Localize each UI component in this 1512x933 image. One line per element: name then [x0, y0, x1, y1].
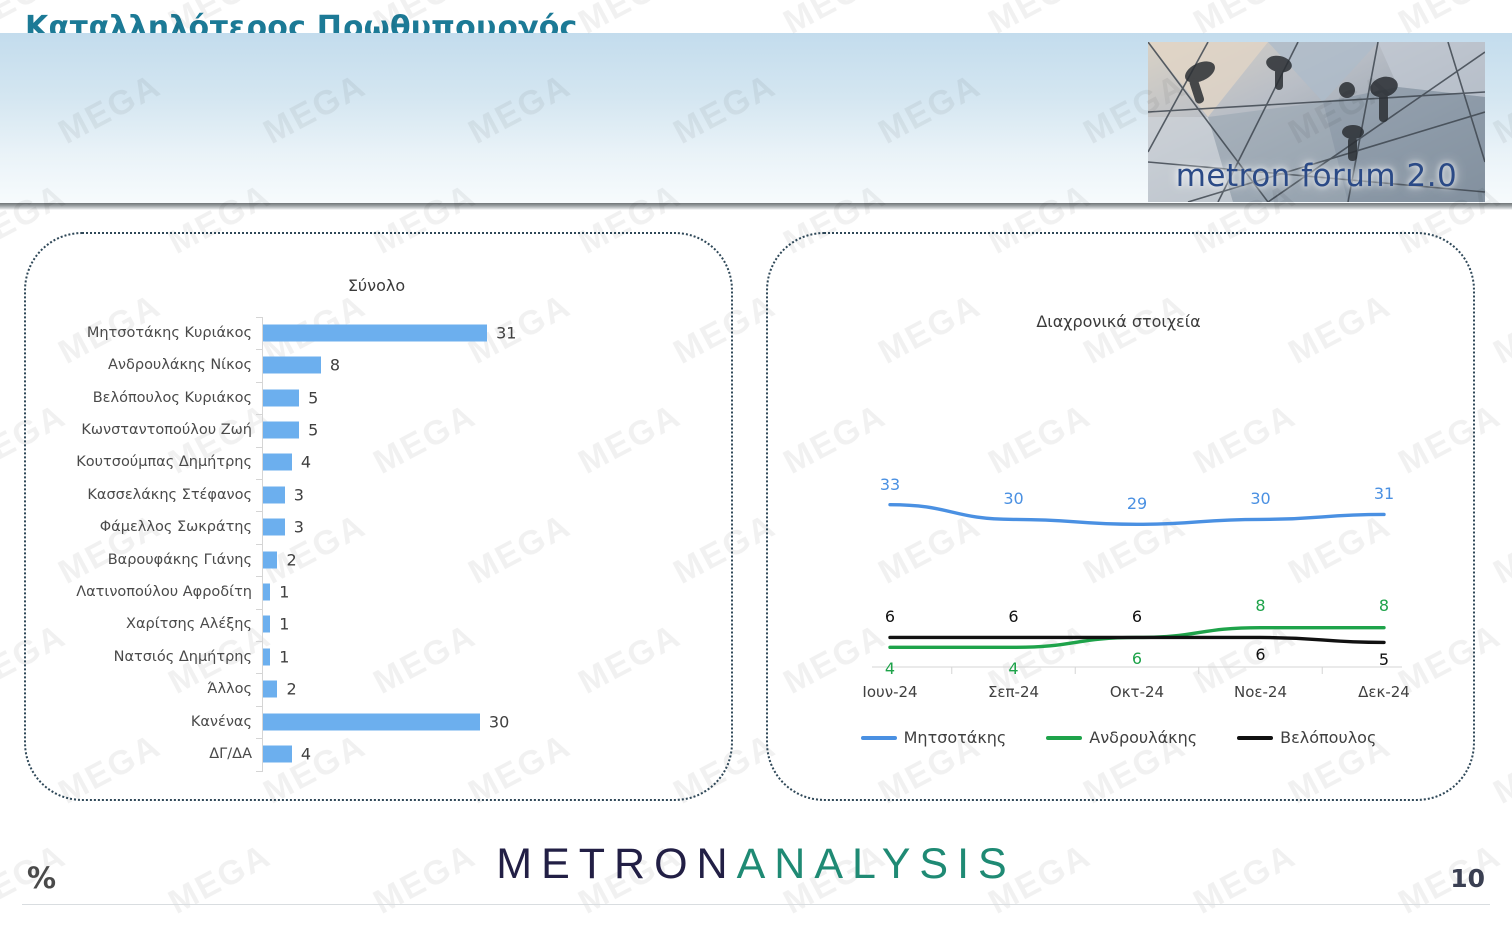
percent-unit-label: % — [27, 861, 56, 895]
bar-chart-row: Λατινοπούλου Αφροδίτη1 — [24, 576, 729, 608]
bar-axis-tick — [256, 349, 263, 350]
bar-category-label: Ανδρουλάκης Νίκος — [24, 357, 252, 373]
bar-chart-row: Χαρίτσης Αλέξης1 — [24, 609, 729, 641]
line-value-label: 4 — [885, 659, 895, 678]
bar-axis-tick — [256, 382, 263, 383]
bar-rect — [263, 486, 285, 503]
bar-axis-tick — [256, 447, 263, 448]
bar-rect — [263, 454, 292, 471]
line-value-label: 8 — [1255, 596, 1265, 615]
bar-chart-row: Ανδρουλάκης Νίκος8 — [24, 349, 729, 381]
page-number: 10 — [1450, 864, 1485, 893]
bar-chart-row: Βαρουφάκης Γιάνης2 — [24, 544, 729, 576]
legend-item[interactable]: Ανδρουλάκης — [1046, 728, 1197, 747]
bar-category-label: Χαρίτσης Αλέξης — [24, 616, 252, 632]
bar-category-label: Άλλος — [24, 681, 252, 697]
footer-divider — [22, 904, 1490, 905]
bar-value-label: 4 — [301, 744, 311, 763]
line-chart-timeseries: Διαχρονικά στοιχεία 33302930314468866665… — [766, 232, 1471, 797]
bar-rect — [263, 519, 285, 536]
bar-value-label: 4 — [301, 453, 311, 472]
line-value-label: 30 — [1003, 489, 1023, 508]
bar-value-label: 2 — [286, 680, 296, 699]
bar-chart-row: Νατσιός Δημήτρης1 — [24, 641, 729, 673]
metron-analysis-brand: METRONANALYSIS — [0, 840, 1512, 889]
brand-metron: METRON — [496, 840, 736, 888]
bar-axis-tick — [256, 317, 263, 318]
bar-category-label: Κωνσταντοπούλου Ζωή — [24, 422, 252, 438]
bar-chart-row: ΔΓ/ΔΑ4 — [24, 738, 729, 770]
bar-category-label: Κασσελάκης Στέφανος — [24, 487, 252, 503]
bar-rect — [263, 713, 480, 730]
line-value-label: 4 — [1008, 659, 1018, 678]
bar-value-label: 8 — [330, 356, 340, 375]
bar-axis-tick — [256, 576, 263, 577]
bar-rect — [263, 681, 277, 698]
bar-axis-tick — [256, 673, 263, 674]
bar-axis-tick — [256, 771, 263, 772]
bar-axis-tick — [256, 706, 263, 707]
line-value-label: 30 — [1250, 489, 1270, 508]
bar-rect — [263, 324, 487, 341]
bar-category-label: Λατινοπούλου Αφροδίτη — [24, 584, 252, 600]
bar-value-label: 2 — [286, 550, 296, 569]
bar-value-label: 1 — [279, 582, 289, 601]
line-x-label: Δεκ-24 — [1358, 683, 1410, 701]
legend-item[interactable]: Μητσοτάκης — [861, 728, 1007, 747]
bar-value-label: 3 — [294, 485, 304, 504]
bar-chart-row: Μητσοτάκης Κυριάκος31 — [24, 317, 729, 349]
bar-chart-row: Βελόπουλος Κυριάκος5 — [24, 382, 729, 414]
bar-rect — [263, 745, 292, 762]
brand-analysis: ANALYSIS — [737, 840, 1016, 888]
watermark-text: MEGA — [1487, 726, 1512, 812]
line-x-label: Οκτ-24 — [1110, 683, 1164, 701]
legend-swatch — [1237, 736, 1273, 740]
bar-chart-row: Φάμελλος Σωκράτης3 — [24, 511, 729, 543]
line-value-label: 6 — [1132, 607, 1142, 626]
bar-category-label: Νατσιός Δημήτρης — [24, 649, 252, 665]
bar-value-label: 31 — [496, 323, 516, 342]
bar-rect — [263, 648, 270, 665]
bar-category-label: ΔΓ/ΔΑ — [24, 746, 252, 762]
metron-forum-logo: metron forum 2.0 — [1148, 42, 1485, 202]
bar-value-label: 5 — [308, 420, 318, 439]
bar-chart-total: Σύνολο Μητσοτάκης Κυριάκος31Ανδρουλάκης … — [24, 232, 729, 797]
line-chart-title: Διαχρονικά στοιχεία — [766, 312, 1471, 331]
line-series-path — [890, 637, 1384, 642]
bar-axis-tick — [256, 544, 263, 545]
bar-rect — [263, 583, 270, 600]
bar-axis-tick — [256, 738, 263, 739]
line-value-label: 6 — [1255, 645, 1265, 664]
bar-value-label: 3 — [294, 518, 304, 537]
bar-value-label: 1 — [279, 647, 289, 666]
bar-chart-row: Κασσελάκης Στέφανος3 — [24, 479, 729, 511]
line-x-label: Ιουν-24 — [862, 683, 917, 701]
bar-rect — [263, 421, 299, 438]
legend-label: Μητσοτάκης — [904, 728, 1007, 747]
bar-chart-row: Κωνσταντοπούλου Ζωή5 — [24, 414, 729, 446]
bar-rect — [263, 389, 299, 406]
line-value-label: 6 — [1132, 649, 1142, 668]
bar-rect — [263, 551, 277, 568]
watermark-text: MEGA — [1487, 506, 1512, 592]
line-chart-legend: ΜητσοτάκηςΑνδρουλάκηςΒελόπουλος — [766, 728, 1471, 747]
header-divider — [0, 203, 1512, 210]
bar-rect — [263, 357, 321, 374]
line-value-label: 31 — [1374, 484, 1394, 503]
bar-chart-title: Σύνολο — [24, 276, 729, 295]
line-x-label: Σεπ-24 — [988, 683, 1039, 701]
bar-category-label: Κουτσούμπας Δημήτρης — [24, 454, 252, 470]
line-value-label: 6 — [1008, 607, 1018, 626]
line-value-label: 33 — [880, 475, 900, 494]
bar-value-label: 5 — [308, 388, 318, 407]
bar-chart-row: Άλλος2 — [24, 673, 729, 705]
bar-value-label: 1 — [279, 615, 289, 634]
bar-category-label: Κανένας — [24, 714, 252, 730]
bar-rect — [263, 616, 270, 633]
legend-label: Ανδρουλάκης — [1089, 728, 1197, 747]
line-value-label: 5 — [1379, 650, 1389, 669]
bar-value-label: 30 — [489, 712, 509, 731]
bar-chart-row: Κουτσούμπας Δημήτρης4 — [24, 447, 729, 479]
line-x-label: Νοε-24 — [1234, 683, 1287, 701]
watermark-text: MEGA — [1487, 286, 1512, 372]
bar-axis-tick — [256, 479, 263, 480]
legend-swatch — [1046, 736, 1082, 740]
line-value-label: 29 — [1127, 494, 1147, 513]
legend-swatch — [861, 736, 897, 740]
legend-label: Βελόπουλος — [1280, 728, 1376, 747]
logo-wordmark: metron forum 2.0 — [1156, 158, 1477, 194]
legend-item[interactable]: Βελόπουλος — [1237, 728, 1376, 747]
bar-category-label: Βελόπουλος Κυριάκος — [24, 390, 252, 406]
bar-category-label: Φάμελλος Σωκράτης — [24, 519, 252, 535]
bar-axis-tick — [256, 511, 263, 512]
bar-axis-tick — [256, 609, 263, 610]
bar-category-label: Βαρουφάκης Γιάνης — [24, 552, 252, 568]
bar-chart-row: Κανένας30 — [24, 706, 729, 738]
line-value-label: 6 — [885, 607, 895, 626]
bar-category-label: Μητσοτάκης Κυριάκος — [24, 325, 252, 341]
bar-axis-tick — [256, 641, 263, 642]
line-value-label: 8 — [1379, 596, 1389, 615]
bar-axis-tick — [256, 414, 263, 415]
